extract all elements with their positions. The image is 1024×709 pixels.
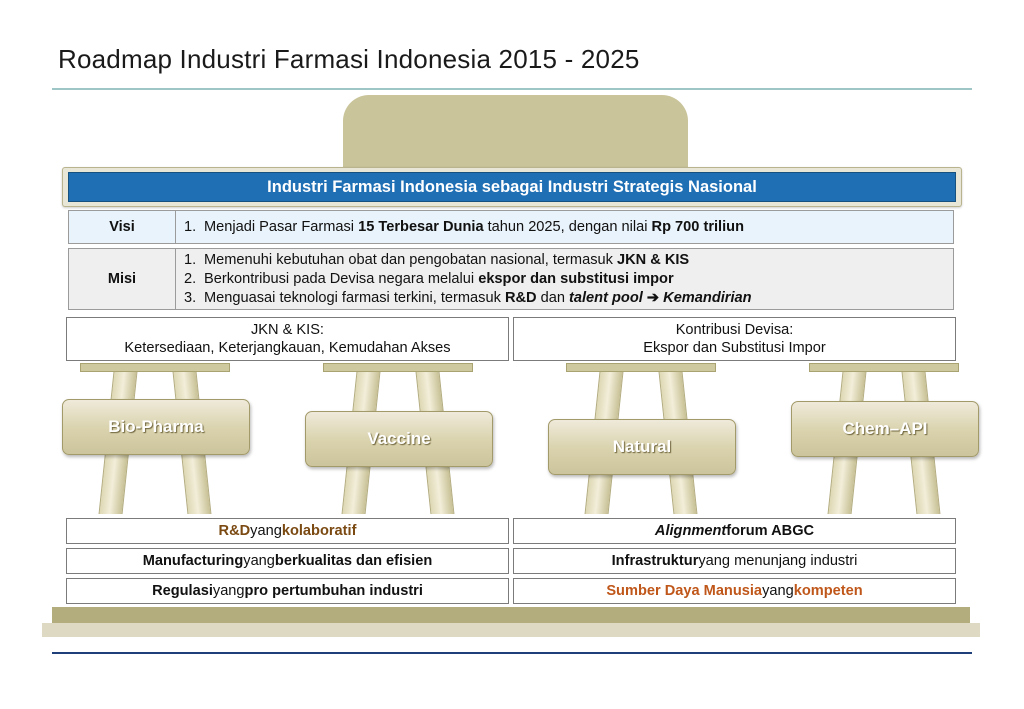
pillar-cap [80,363,230,372]
text-run: yang [243,553,275,569]
list-item-text: Memenuhi kebutuhan obat dan pengobatan n… [204,251,689,270]
text-run: Menjadi Pasar Farmasi [204,219,358,235]
list-item-text: Berkontribusi pada Devisa negara melalui… [204,270,674,289]
text-run: Infrastruktur [612,553,699,569]
text-run: Kemandirian [663,290,751,306]
pillar-cap [809,363,959,372]
foundation-row-3: Regulasi yang pro pertumbuhan industriSu… [66,578,956,604]
bottom-divider [52,652,972,654]
page-title: Roadmap Industri Farmasi Indonesia 2015 … [58,44,640,75]
list-item-text: Menguasai teknologi farmasi terkini, ter… [204,289,752,308]
foundation-slab-bottom [42,623,980,637]
text-run: forum ABGC [726,523,814,539]
objective-box-1: JKN & KIS:Ketersediaan, Keterjangkauan, … [66,317,509,361]
pillar-cap [566,363,716,372]
list-item-number: 1. [184,251,204,270]
foundation-cell: R&D yang kolaboratif [66,518,509,544]
objective-title: JKN & KIS: [251,321,324,339]
text-run: R&D [505,290,537,306]
foundation-cell: Regulasi yang pro pertumbuhan industri [66,578,509,604]
list-item-text: Menjadi Pasar Farmasi 15 Terbesar Dunia … [204,218,744,237]
pillar-label[interactable]: Vaccine [305,411,493,467]
objective-box-2: Kontribusi Devisa:Ekspor dan Substitusi … [513,317,956,361]
text-run: 15 Terbesar Dunia [358,219,483,235]
foundation-cell: Sumber Daya Manusia yang kompeten [513,578,956,604]
misi-label: Misi [68,248,176,310]
text-run: Sumber Daya Manusia [606,583,762,599]
text-run: yang [250,523,282,539]
foundation-slab-top [52,607,970,623]
text-run: dan [537,290,569,306]
foundation-row-2: Manufacturing yang berkualitas dan efisi… [66,548,956,574]
text-run: Berkontribusi pada Devisa negara melalui [204,271,478,287]
text-run: yang [762,583,794,599]
pillar-4: Chem–API [791,363,977,513]
list-item: 1.Menjadi Pasar Farmasi 15 Terbesar Duni… [184,218,947,237]
text-run: Regulasi [152,583,213,599]
objective-boxes: JKN & KIS:Ketersediaan, Keterjangkauan, … [66,317,956,361]
objective-title: Kontribusi Devisa: [676,321,794,339]
banner-title: Industri Farmasi Indonesia sebagai Indus… [68,172,956,202]
pillar-2: Vaccine [305,363,491,513]
pillar-cap [323,363,473,372]
text-run: Menguasai teknologi farmasi terkini, ter… [204,290,505,306]
text-run: berkualitas dan efisien [275,553,432,569]
list-item-number: 1. [184,218,204,237]
list-item-number: 3. [184,289,204,308]
text-run: Alignment [655,523,726,539]
text-run: Rp 700 triliun [652,219,744,235]
text-run: JKN & KIS [617,252,689,268]
text-run: ekspor dan substitusi impor [478,271,673,287]
text-run: yang menunjang industri [698,553,857,569]
objective-detail: Ekspor dan Substitusi Impor [643,339,826,357]
pillar-label[interactable]: Bio-Pharma [62,399,250,455]
visi-content: 1.Menjadi Pasar Farmasi 15 Terbesar Duni… [176,210,954,244]
foundation-cell: Manufacturing yang berkualitas dan efisi… [66,548,509,574]
text-run: Memenuhi kebutuhan obat dan pengobatan n… [204,252,617,268]
text-run: Manufacturing [143,553,244,569]
pillar-1: Bio-Pharma [62,363,248,513]
text-run: ➔ [643,290,663,306]
list-item: 2.Berkontribusi pada Devisa negara melal… [184,270,947,289]
text-run: tahun 2025, dengan nilai [484,219,652,235]
text-run: yang [213,583,245,599]
text-run: pro pertumbuhan industri [245,583,423,599]
text-run: talent pool [569,290,643,306]
foundation-cell: Infrastruktur yang menunjang industri [513,548,956,574]
title-divider [52,88,972,90]
pillar-label[interactable]: Chem–API [791,401,979,457]
text-run: kompeten [794,583,863,599]
text-run: R&D [219,523,251,539]
list-item: 3.Menguasai teknologi farmasi terkini, t… [184,289,947,308]
foundation-cell: Alignment forum ABGC [513,518,956,544]
slide-root: Roadmap Industri Farmasi Indonesia 2015 … [0,0,1024,709]
misi-row: Misi 1.Memenuhi kebutuhan obat dan pengo… [68,248,954,310]
visi-row: Visi 1.Menjadi Pasar Farmasi 15 Terbesar… [68,210,954,244]
list-item: 1.Memenuhi kebutuhan obat dan pengobatan… [184,251,947,270]
objective-detail: Ketersediaan, Keterjangkauan, Kemudahan … [124,339,450,357]
list-item-number: 2. [184,270,204,289]
visi-label: Visi [68,210,176,244]
pillar-3: Natural [548,363,734,513]
foundation-row-1: R&D yang kolaboratifAlignment forum ABGC [66,518,956,544]
pillar-label[interactable]: Natural [548,419,736,475]
text-run: kolaboratif [282,523,357,539]
misi-content: 1.Memenuhi kebutuhan obat dan pengobatan… [176,248,954,310]
